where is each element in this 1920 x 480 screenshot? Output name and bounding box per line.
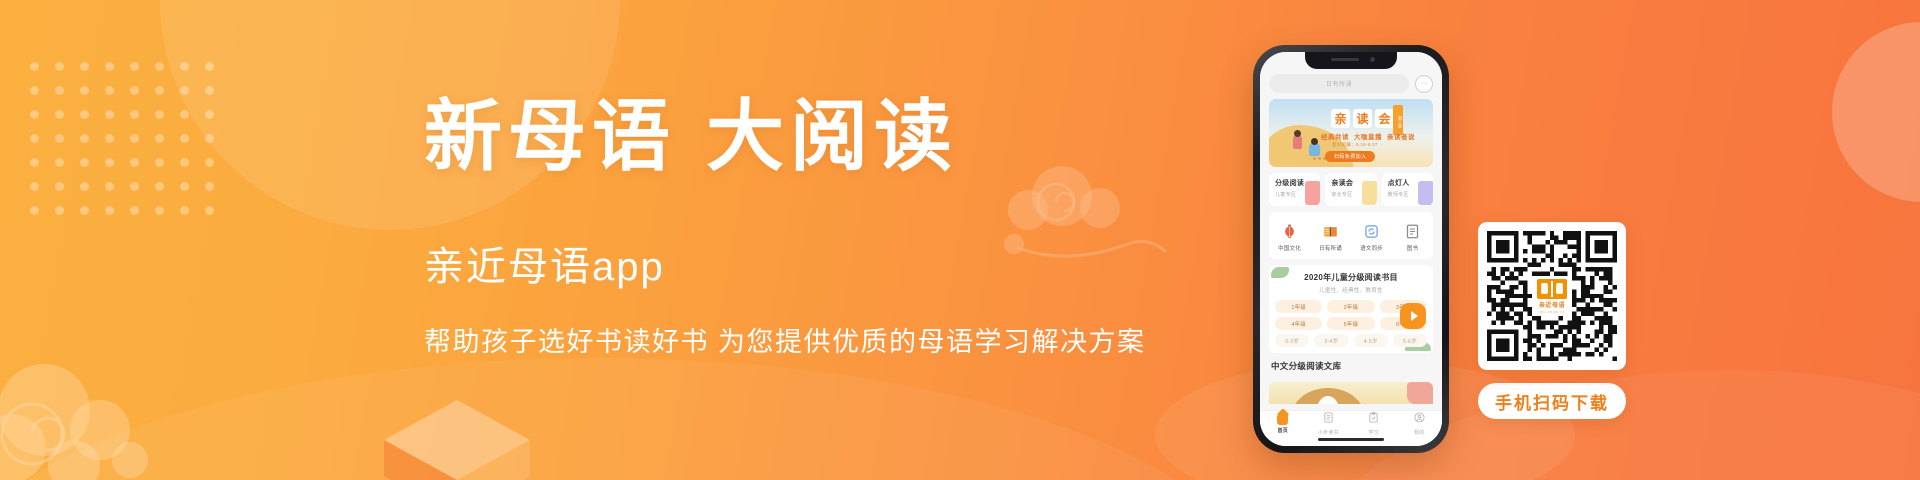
headline-left: 新母语 <box>424 91 676 182</box>
zone-cards: 分级阅读 儿童专区 亲读会 家长专区 点灯人 教师专区 <box>1269 173 1433 206</box>
play-video-button[interactable] <box>1400 303 1426 329</box>
tab-study[interactable]: 学习 <box>1354 412 1394 436</box>
app-screen: 日有所诵 ··· 亲 读 会 第三季 <box>1260 52 1442 446</box>
shortcut-label: 语文同步 <box>1360 244 1383 252</box>
hero-feature-1: 经典共读 <box>1321 131 1349 141</box>
tab-label: 我的 <box>1414 429 1424 436</box>
sync-icon <box>1363 222 1381 240</box>
booklist-card: 2020年儿童分级阅读书目 儿童性、经典性、教育性 1年级 2年级 3年级 4年… <box>1269 265 1433 353</box>
copy-block: 新母语大阅读 亲近母语app 帮助孩子选好书读好书 为您提供优质的母语学习解决方… <box>424 96 1244 359</box>
phone-screen-frame: 日有所诵 ··· 亲 读 会 第三季 <box>1260 52 1442 446</box>
shortcut-label: 中国文化 <box>1278 244 1301 252</box>
hero-cta-button[interactable]: 扫码免费加入 <box>1325 151 1375 162</box>
hero-features: 经典共读 大咖直播 亲读者说 <box>1321 131 1415 141</box>
booklist-title: 2020年儿童分级阅读书目 <box>1275 272 1427 283</box>
subline-app-name: 亲近母语app <box>424 234 1244 292</box>
library-preview-card[interactable] <box>1269 382 1433 404</box>
hero-title: 亲 读 会 <box>1331 109 1394 128</box>
qr-card: 亲近母语 QIN JIN MU YU <box>1478 222 1626 370</box>
qr-block: 亲近母语 QIN JIN MU YU 手机扫码下载 <box>1478 222 1626 419</box>
hero-title-char-1: 亲 <box>1331 109 1350 128</box>
tab-label: 小步读书 <box>1318 429 1339 436</box>
phone-notch <box>1305 52 1397 69</box>
grade-tag[interactable]: 5年级 <box>1327 317 1374 330</box>
shortcut-chinese-sync[interactable]: 语文同步 <box>1354 222 1390 252</box>
decorative-cube <box>380 396 534 480</box>
download-button[interactable]: 手机扫码下载 <box>1478 383 1626 419</box>
message-icon[interactable]: ··· <box>1415 75 1433 93</box>
hero-title-char-3: 会 <box>1375 109 1394 128</box>
tagline: 帮助孩子选好书读好书 为您提供优质的母语学习解决方案 <box>424 320 1244 359</box>
hero-child-right-head <box>1311 138 1318 145</box>
age-tag[interactable]: 5-6岁 <box>1393 334 1427 347</box>
home-icon <box>1277 414 1288 425</box>
book-icon <box>1404 222 1422 240</box>
speaker-icon <box>1331 58 1359 61</box>
hero-title-char-2: 读 <box>1353 109 1372 128</box>
zone-illustration-icon <box>1305 181 1320 205</box>
zone-illustration-icon <box>1362 181 1377 205</box>
play-icon <box>1411 311 1418 321</box>
shortcut-books[interactable]: 图书 <box>1395 222 1431 252</box>
zone-card-teacher[interactable]: 点灯人 教师专区 <box>1382 173 1433 206</box>
headline-right: 大阅读 <box>706 91 958 182</box>
search-input[interactable]: 日有所诵 <box>1269 74 1409 93</box>
qr-logo-pinyin: QIN JIN MU YU <box>1539 310 1564 314</box>
age-tag[interactable]: 3-4岁 <box>1314 334 1348 347</box>
search-row: 日有所诵 ··· <box>1269 74 1433 93</box>
shortcut-chinese-culture[interactable]: 中国文化 <box>1272 222 1308 252</box>
hero-child-left <box>1293 135 1302 149</box>
age-row: 0-3岁 3-4岁 4-5岁 5-6岁 <box>1275 334 1427 347</box>
book-logo-icon <box>1537 279 1567 299</box>
shortcut-row: 中国文化 日有所诵 <box>1269 212 1433 259</box>
booklist-subtitle: 儿童性、经典性、教育性 <box>1275 286 1427 294</box>
hero-feature-2: 大咖直播 <box>1354 131 1382 141</box>
grade-tag[interactable]: 2年级 <box>1327 300 1374 313</box>
shortcut-daily-recitation[interactable]: 日有所诵 <box>1313 222 1349 252</box>
headline: 新母语大阅读 <box>424 96 1244 178</box>
tab-label: 首页 <box>1278 427 1288 434</box>
tab-profile[interactable]: 我的 <box>1399 412 1439 436</box>
user-icon <box>1414 412 1425 426</box>
camera-icon <box>1370 57 1375 62</box>
age-tag[interactable]: 4-5岁 <box>1354 334 1388 347</box>
book-open-icon <box>1322 222 1340 240</box>
decorative-cloud-bottom-left <box>0 338 232 480</box>
download-button-label: 手机扫码下载 <box>1495 389 1609 414</box>
library-block <box>1407 382 1433 404</box>
tab-reading[interactable]: 小步读书 <box>1308 412 1348 436</box>
tab-home[interactable]: 首页 <box>1263 414 1303 435</box>
zone-illustration-icon <box>1418 181 1433 205</box>
grade-tag[interactable]: 4年级 <box>1275 317 1322 330</box>
decorative-dot-grid <box>30 62 230 222</box>
shortcut-label: 日有所诵 <box>1319 244 1342 252</box>
library-section-title: 中文分级阅读文库 <box>1269 359 1433 372</box>
hero-feature-3: 亲读者说 <box>1387 131 1415 141</box>
checklist-icon <box>1368 412 1379 426</box>
hero-banner-card[interactable]: 亲 读 会 第三季 经典共读 大咖直播 亲读者说 复训招募：9.16-9.27 … <box>1269 99 1433 167</box>
zone-card-graded-reading[interactable]: 分级阅读 儿童专区 <box>1269 173 1320 206</box>
notebook-icon <box>1323 412 1334 426</box>
hero-child-left-head <box>1294 130 1301 137</box>
zone-card-parent-club[interactable]: 亲读会 家长专区 <box>1325 173 1376 206</box>
promo-banner: 新母语大阅读 亲近母语app 帮助孩子选好书读好书 为您提供优质的母语学习解决方… <box>0 0 1920 480</box>
qr-logo-name: 亲近母语 <box>1539 300 1565 309</box>
lantern-icon <box>1281 222 1299 240</box>
grade-tag[interactable]: 1年级 <box>1275 300 1322 313</box>
phone-mockup: 日有所诵 ··· 亲 读 会 第三季 <box>1253 45 1449 453</box>
tab-label: 学习 <box>1369 429 1379 436</box>
qr-center-logo: 亲近母语 QIN JIN MU YU <box>1532 276 1572 316</box>
hero-carousel-dots[interactable] <box>1313 157 1326 160</box>
age-tag[interactable]: 0-3岁 <box>1275 334 1309 347</box>
hero-date: 复训招募：9.16-9.27 <box>1332 142 1378 148</box>
shortcut-label: 图书 <box>1407 244 1418 252</box>
home-indicator <box>1318 438 1384 442</box>
decorative-circle-top-right <box>1832 22 1920 202</box>
decorative-hill-left <box>0 358 1260 480</box>
search-placeholder: 日有所诵 <box>1326 79 1352 88</box>
